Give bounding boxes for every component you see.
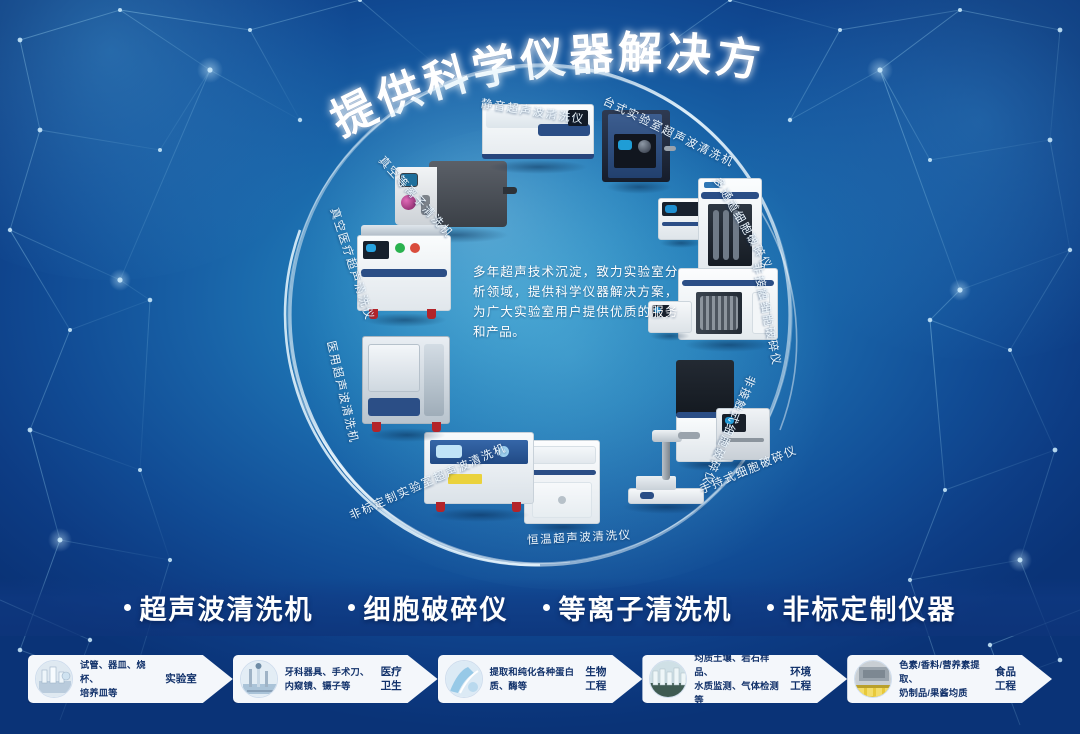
application-chip[interactable]: 均质土壤、岩石样品、水质监测、气体检测等 环境工程 <box>642 655 847 703</box>
chip-tag: 环境工程 <box>790 665 811 693</box>
keyword-item: 等离子清洗机 <box>543 588 733 627</box>
keyword-item: 非标定制仪器 <box>767 588 957 627</box>
chip-description: 提取和纯化各种蛋白质、酶等 <box>490 665 582 693</box>
keyword-bar: 超声波清洗机 细胞破碎仪 等离子清洗机 非标定制仪器 <box>0 578 1080 636</box>
bullet-dot-icon <box>348 604 355 611</box>
product-image-medical-cleaner <box>362 336 450 440</box>
bullet-dot-icon <box>543 604 550 611</box>
bullet-dot-icon <box>124 604 131 611</box>
product-image-thermostatic-cleaner <box>524 440 600 532</box>
product-image-handheld-disruptor <box>616 430 716 514</box>
dental-tools-icon <box>240 660 278 698</box>
keyword-item: 超声波清洗机 <box>124 588 314 627</box>
center-description: 多年超声技术沉淀，致力实验室分析领域，提供科学仪器解决方案，为广大实验室用户提供… <box>473 262 678 342</box>
chip-tag: 实验室 <box>165 672 197 686</box>
application-chip[interactable]: 试管、器皿、烧杯、培养皿等 实验室 <box>28 655 233 703</box>
keyword-label: 超声波清洗机 <box>140 588 314 627</box>
application-chip[interactable]: 牙科器具、手术刀、内窥镜、镊子等 医疗卫生 <box>233 655 438 703</box>
bullet-dot-icon <box>767 604 774 611</box>
chip-description: 均质土壤、岩石样品、水质监测、气体检测等 <box>694 651 786 707</box>
protein-extraction-icon <box>445 660 483 698</box>
application-chip[interactable]: 提取和纯化各种蛋白质、酶等 生物工程 <box>438 655 643 703</box>
lab-glassware-icon <box>35 660 73 698</box>
application-chip[interactable]: 色素/香料/营养素提取、奶制品/果酱均质 食品工程 <box>847 655 1052 703</box>
chip-description: 牙科器具、手术刀、内窥镜、镊子等 <box>285 665 377 693</box>
chip-tag: 医疗卫生 <box>381 665 402 693</box>
application-chip-row: 试管、器皿、烧杯、培养皿等 实验室 牙科器具、手术刀、内 <box>0 640 1080 718</box>
keyword-label: 非标定制仪器 <box>783 588 957 627</box>
food-line-icon <box>854 660 892 698</box>
water-sample-icon <box>649 660 687 698</box>
chip-description: 色素/香料/营养素提取、奶制品/果酱均质 <box>899 658 991 700</box>
poster-canvas: 提供科学仪器解决方案 <box>0 0 1080 734</box>
chip-tag: 生物工程 <box>585 665 606 693</box>
keyword-label: 等离子清洗机 <box>559 588 733 627</box>
chip-description: 试管、器皿、烧杯、培养皿等 <box>80 658 161 700</box>
keyword-label: 细胞破碎仪 <box>364 588 509 627</box>
keyword-item: 细胞破碎仪 <box>348 588 509 627</box>
chip-tag: 食品工程 <box>995 665 1016 693</box>
